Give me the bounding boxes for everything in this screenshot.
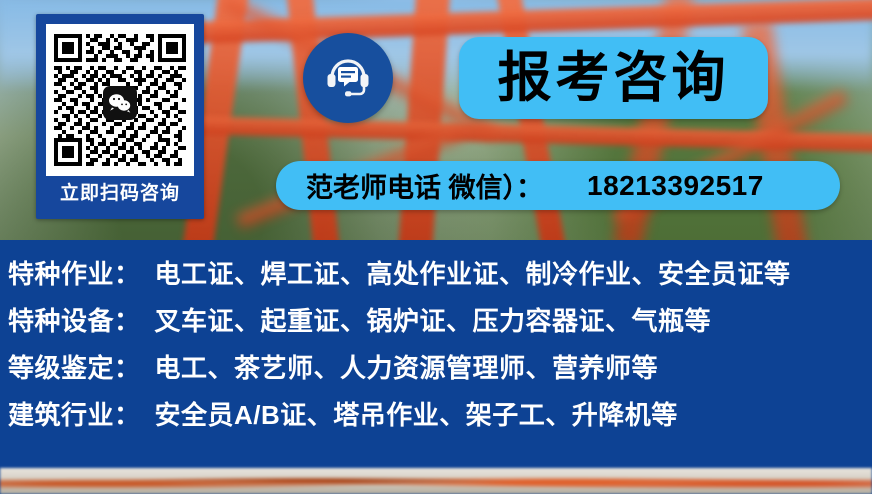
category-label: 等级鉴定： (8, 348, 141, 385)
category-items: 叉车证、起重证、锅炉证、压力容器证、气瓶等 (155, 301, 712, 338)
qr-code-icon[interactable] (46, 24, 194, 176)
category-label: 特种设备： (8, 301, 141, 338)
page-title: 报考咨询 (498, 51, 730, 105)
category-items: 电工、茶艺师、人力资源管理师、营养师等 (155, 348, 659, 385)
category-items: 安全员A/B证、塔吊作业、架子工、升降机等 (155, 395, 678, 432)
category-label: 建筑行业： (8, 395, 141, 432)
wechat-logo-icon (103, 86, 137, 120)
category-items: 电工证、焊工证、高处作业证、制冷作业、安全员证等 (155, 254, 791, 291)
headset-chat-icon (321, 49, 375, 108)
list-item: 特种设备： 叉车证、起重证、锅炉证、压力容器证、气瓶等 (0, 301, 872, 348)
title-badge: 报考咨询 (459, 37, 768, 119)
promo-poster: 立即扫码咨询 报考咨询 范老师电话 微信）： 18213392517 (0, 0, 872, 494)
bottom-photo-strip (0, 468, 872, 494)
headset-badge (303, 33, 393, 123)
certificate-list: 特种作业： 电工证、焊工证、高处作业证、制冷作业、安全员证等 特种设备： 叉车证… (0, 240, 872, 468)
list-item: 建筑行业： 安全员A/B证、塔吊作业、架子工、升降机等 (0, 395, 872, 442)
qr-panel[interactable]: 立即扫码咨询 (36, 14, 204, 219)
contact-bar[interactable]: 范老师电话 微信）： 18213392517 (276, 161, 840, 210)
category-label: 特种作业： (8, 254, 141, 291)
qr-label: 立即扫码咨询 (60, 184, 180, 203)
contact-phone-number[interactable]: 18213392517 (587, 170, 764, 202)
list-item: 等级鉴定： 电工、茶艺师、人力资源管理师、营养师等 (0, 348, 872, 395)
contact-label: 范老师电话 微信）： (306, 166, 543, 205)
list-item: 特种作业： 电工证、焊工证、高处作业证、制冷作业、安全员证等 (0, 240, 872, 301)
